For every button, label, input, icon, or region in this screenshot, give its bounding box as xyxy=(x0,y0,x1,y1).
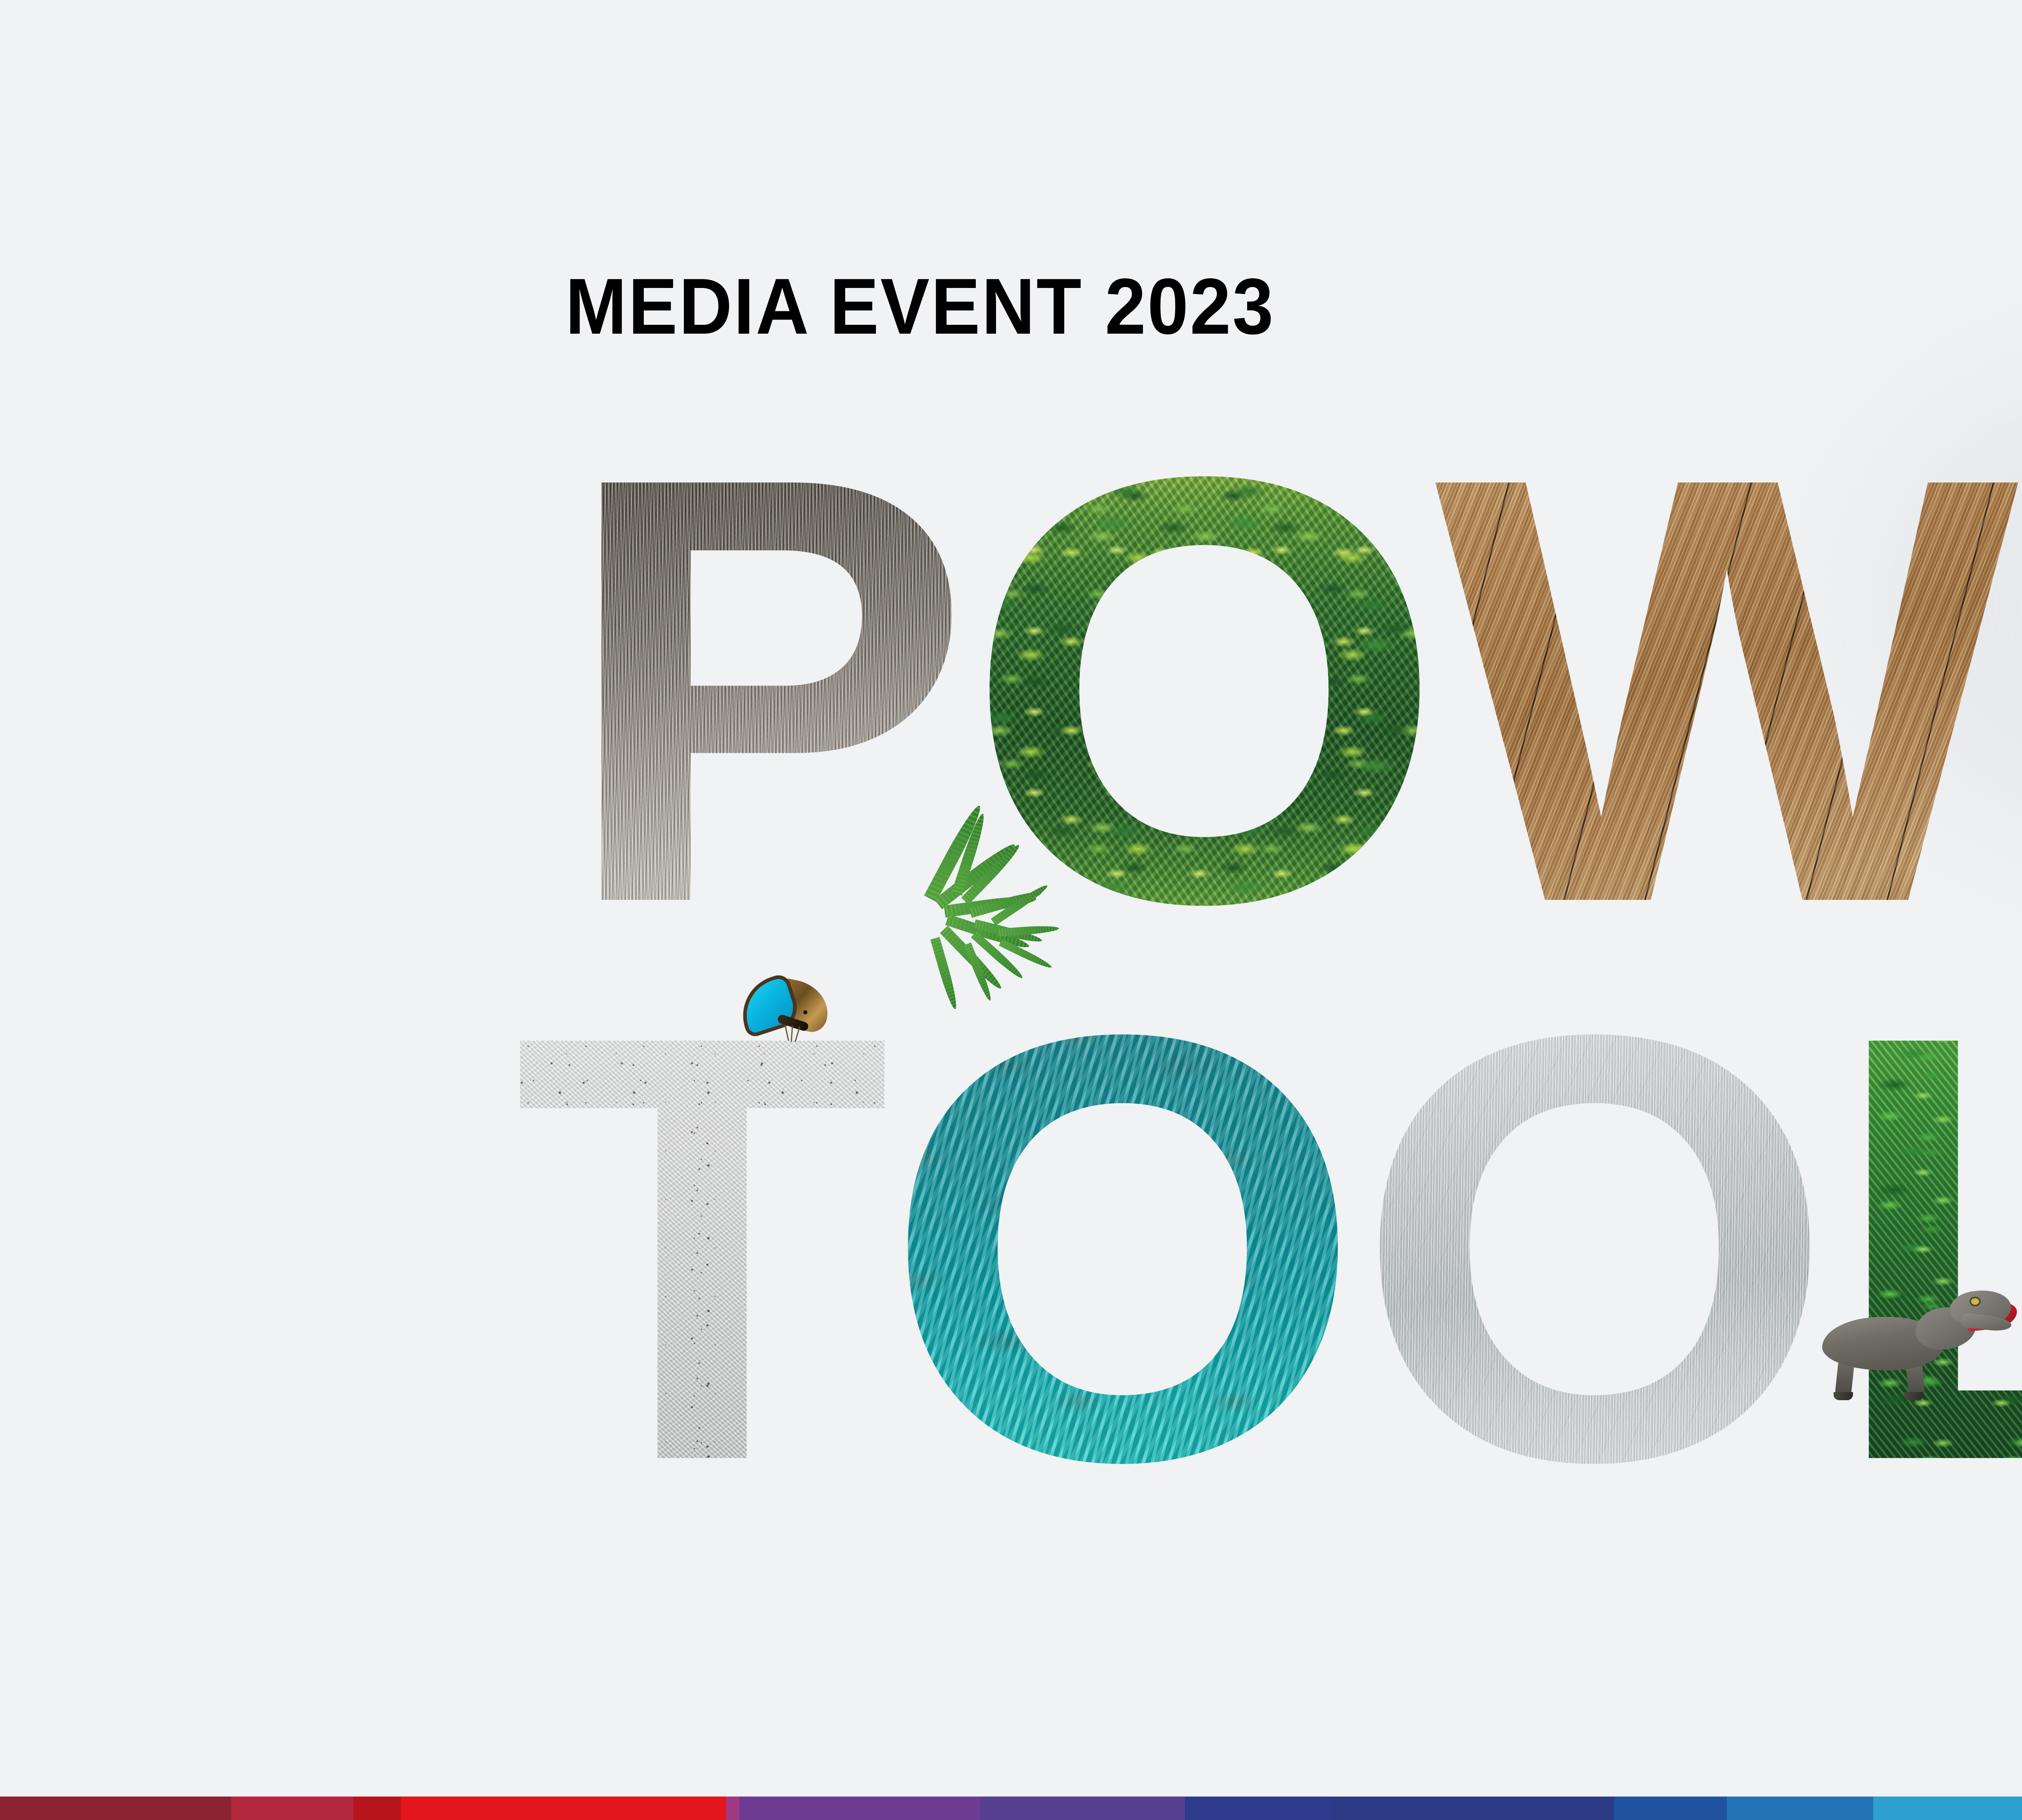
supergraphic-segment xyxy=(726,1797,739,1820)
supergraphic-segment xyxy=(1727,1797,1874,1820)
headline-letter-o3: O xyxy=(1354,1011,1836,1484)
supergraphic-color-bar xyxy=(0,1797,2022,1820)
supergraphic-segment xyxy=(980,1797,1185,1820)
headline-line-power: P O W E R xyxy=(564,453,2022,926)
supergraphic-segment xyxy=(0,1797,231,1820)
poster-canvas: MEDIA EVENT 2023 P O W E R T O O L S xyxy=(0,0,2022,1820)
supergraphic-segment xyxy=(1185,1797,1332,1820)
headline-letter-o1: O xyxy=(964,453,1445,926)
event-eyebrow-title: MEDIA EVENT 2023 xyxy=(565,267,1275,346)
supergraphic-segment xyxy=(401,1797,726,1820)
headline-letter-w: W xyxy=(1435,453,2019,926)
supergraphic-segment xyxy=(1614,1797,1727,1820)
supergraphic-segment xyxy=(1873,1797,2022,1820)
headline-line-tools: T O O L S xyxy=(517,1011,2022,1484)
supergraphic-segment xyxy=(739,1797,980,1820)
supergraphic-segment xyxy=(1332,1797,1614,1820)
headline-letter-o2: O xyxy=(883,1011,1364,1484)
supergraphic-segment xyxy=(353,1797,400,1820)
headline-letter-p: P xyxy=(560,453,973,926)
headline-letter-l: L xyxy=(1827,1011,2022,1484)
headline-letter-e: E xyxy=(2009,453,2022,926)
headline-letter-t: T xyxy=(513,1011,891,1484)
supergraphic-segment xyxy=(231,1797,353,1820)
